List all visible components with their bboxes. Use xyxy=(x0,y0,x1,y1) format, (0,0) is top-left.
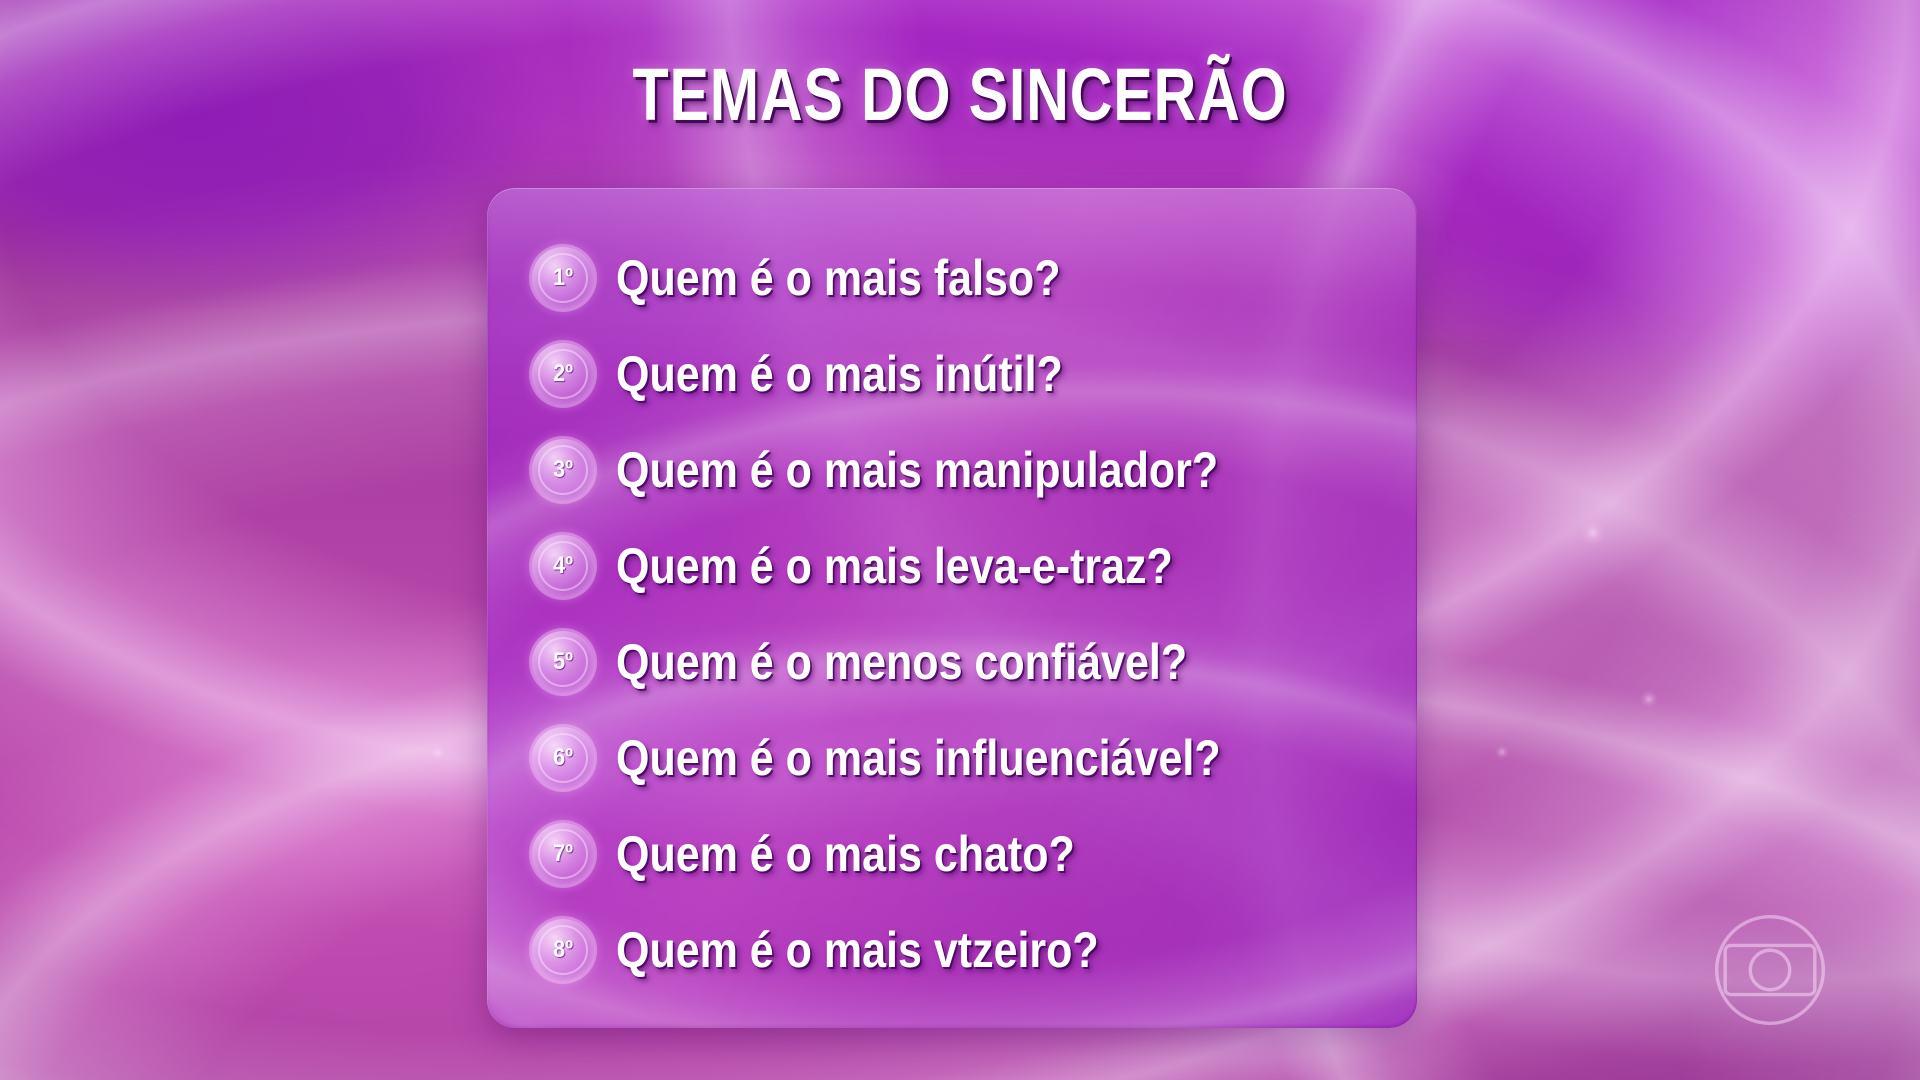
topics-panel: 1º Quem é o mais falso? 2º Quem é o mais… xyxy=(487,188,1417,1028)
rank-badge: 4º xyxy=(532,535,594,597)
rank-badge: 5º xyxy=(532,631,594,693)
rank-label: 6º xyxy=(553,744,573,772)
topic-label: Quem é o mais chato? xyxy=(616,829,1075,879)
topic-label: Quem é o mais influenciável? xyxy=(616,733,1221,783)
rank-badge: 8º xyxy=(532,919,594,981)
page-title: TEMAS DO SINCERÃO xyxy=(192,58,1728,132)
list-item[interactable]: 1º Quem é o mais falso? xyxy=(532,230,1417,326)
list-item[interactable]: 5º Quem é o menos confiável? xyxy=(532,614,1417,710)
topic-label: Quem é o menos confiável? xyxy=(616,637,1187,687)
rank-label: 7º xyxy=(553,840,573,868)
rank-badge: 2º xyxy=(532,343,594,405)
topic-label: Quem é o mais falso? xyxy=(616,253,1060,303)
rank-label: 5º xyxy=(553,648,573,676)
topic-label: Quem é o mais manipulador? xyxy=(616,445,1218,495)
topic-label: Quem é o mais vtzeiro? xyxy=(616,925,1099,975)
list-item[interactable]: 7º Quem é o mais chato? xyxy=(532,806,1417,902)
list-item[interactable]: 4º Quem é o mais leva-e-traz? xyxy=(532,518,1417,614)
rank-badge: 3º xyxy=(532,439,594,501)
rank-label: 4º xyxy=(553,552,573,580)
broadcast-graphic-stage: TEMAS DO SINCERÃO 1º Quem é o mais falso… xyxy=(0,0,1920,1080)
rank-label: 1º xyxy=(553,264,573,292)
rank-label: 3º xyxy=(553,456,573,484)
list-item[interactable]: 3º Quem é o mais manipulador? xyxy=(532,422,1417,518)
topic-list: 1º Quem é o mais falso? 2º Quem é o mais… xyxy=(487,188,1417,998)
rank-label: 8º xyxy=(553,936,573,964)
rank-badge: 7º xyxy=(532,823,594,885)
list-item[interactable]: 6º Quem é o mais influenciável? xyxy=(532,710,1417,806)
rank-label: 2º xyxy=(553,360,573,388)
rank-badge: 1º xyxy=(532,247,594,309)
list-item[interactable]: 8º Quem é o mais vtzeiro? xyxy=(532,902,1417,998)
rank-badge: 6º xyxy=(532,727,594,789)
globo-logo-icon xyxy=(1706,906,1834,1034)
topic-label: Quem é o mais inútil? xyxy=(616,349,1063,399)
topic-label: Quem é o mais leva-e-traz? xyxy=(616,541,1173,591)
list-item[interactable]: 2º Quem é o mais inútil? xyxy=(532,326,1417,422)
